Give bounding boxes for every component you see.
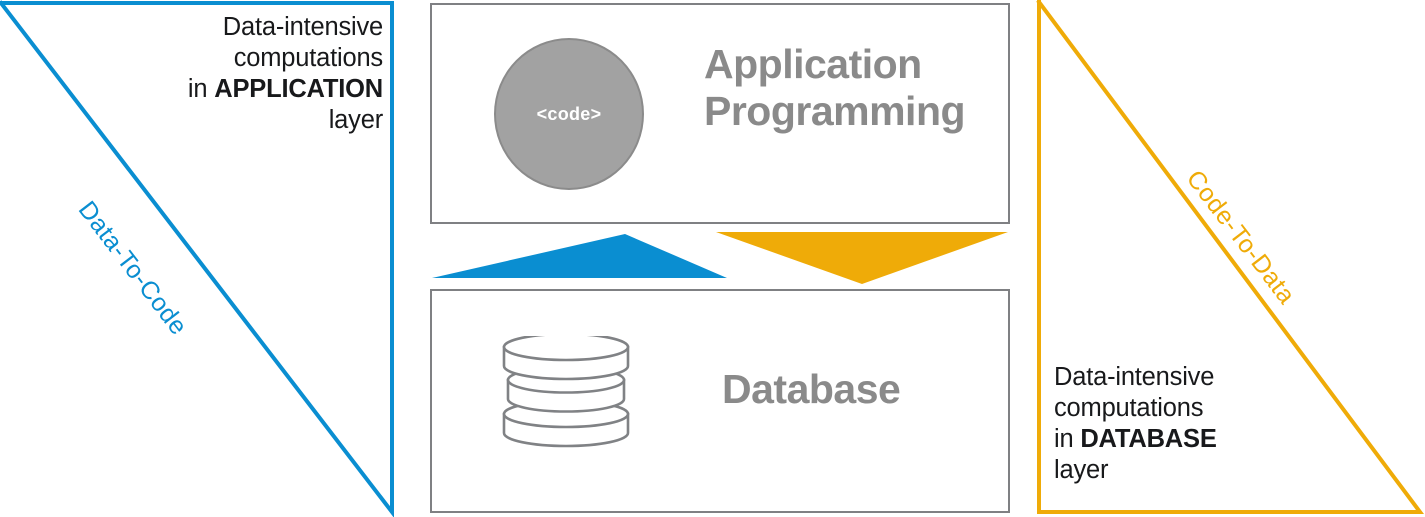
database-layer-title: Database (722, 366, 900, 413)
right-caption-line2: computations (1054, 394, 1203, 422)
data-to-code-arrow (432, 234, 727, 278)
left-caption: Data-intensivecomputationsin APPLICATION… (140, 12, 383, 136)
right-caption-line3-prefix: in (1054, 425, 1080, 453)
right-caption: Data-intensivecomputationsin DATABASElay… (1054, 362, 1314, 486)
application-layer-box[interactable]: <code> Application Programming (430, 3, 1010, 224)
left-caption-line2: computations (234, 44, 383, 72)
database-cylinder-icon (494, 336, 639, 456)
right-caption-line1: Data-intensive (1054, 363, 1214, 391)
left-caption-line4: layer (329, 106, 383, 134)
data-to-code-label: Data-To-Code (72, 196, 193, 341)
code-to-data-label: Code-To-Data (1180, 165, 1301, 310)
right-caption-line4: layer (1054, 456, 1108, 484)
left-caption-line3-prefix: in (188, 75, 214, 103)
diagram-canvas: Data-To-Code Data-intensivecomputationsi… (0, 0, 1425, 517)
database-layer-box[interactable]: Database (430, 289, 1010, 513)
layer-arrows (430, 228, 1010, 286)
right-caption-line3-bold: DATABASE (1080, 425, 1216, 453)
code-to-data-arrow (716, 232, 1008, 284)
left-caption-line3-bold: APPLICATION (214, 75, 383, 103)
application-layer-title: Application Programming (704, 41, 965, 135)
left-caption-line1: Data-intensive (223, 13, 383, 41)
code-circle-icon: <code> (494, 38, 644, 190)
code-circle-label: <code> (537, 104, 602, 125)
